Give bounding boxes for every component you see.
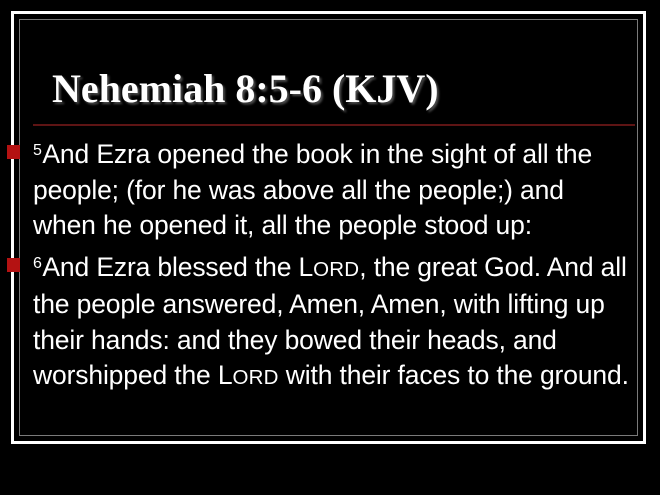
lord-smallcaps-initial: L [299, 252, 314, 282]
verse-paragraph-6: 6And Ezra blessed the LORD, the great Go… [33, 246, 629, 396]
red-square-bullet-icon [7, 145, 20, 159]
verse-number: 5 [33, 142, 42, 159]
verse-text: And Ezra opened the book in the sight of… [33, 139, 592, 240]
verse-number: 6 [33, 255, 42, 272]
lord-smallcaps-initial: L [218, 360, 233, 390]
red-square-bullet-icon [7, 258, 20, 272]
verse-text-segment: And Ezra blessed the [42, 252, 298, 282]
lord-smallcaps-body: ORD [313, 258, 359, 281]
presentation-slide: Nehemiah 8:5-6 (KJV) 5And Ezra opened th… [0, 0, 660, 495]
slide-body: 5And Ezra opened the book in the sight o… [33, 133, 629, 396]
verse-text-segment: with their faces to the ground. [279, 360, 629, 390]
lord-smallcaps-body: ORD [232, 366, 278, 389]
verse-paragraph-5: 5And Ezra opened the book in the sight o… [33, 133, 629, 244]
page-title: Nehemiah 8:5-6 (KJV) [52, 66, 439, 112]
title-divider-rule [33, 124, 635, 126]
